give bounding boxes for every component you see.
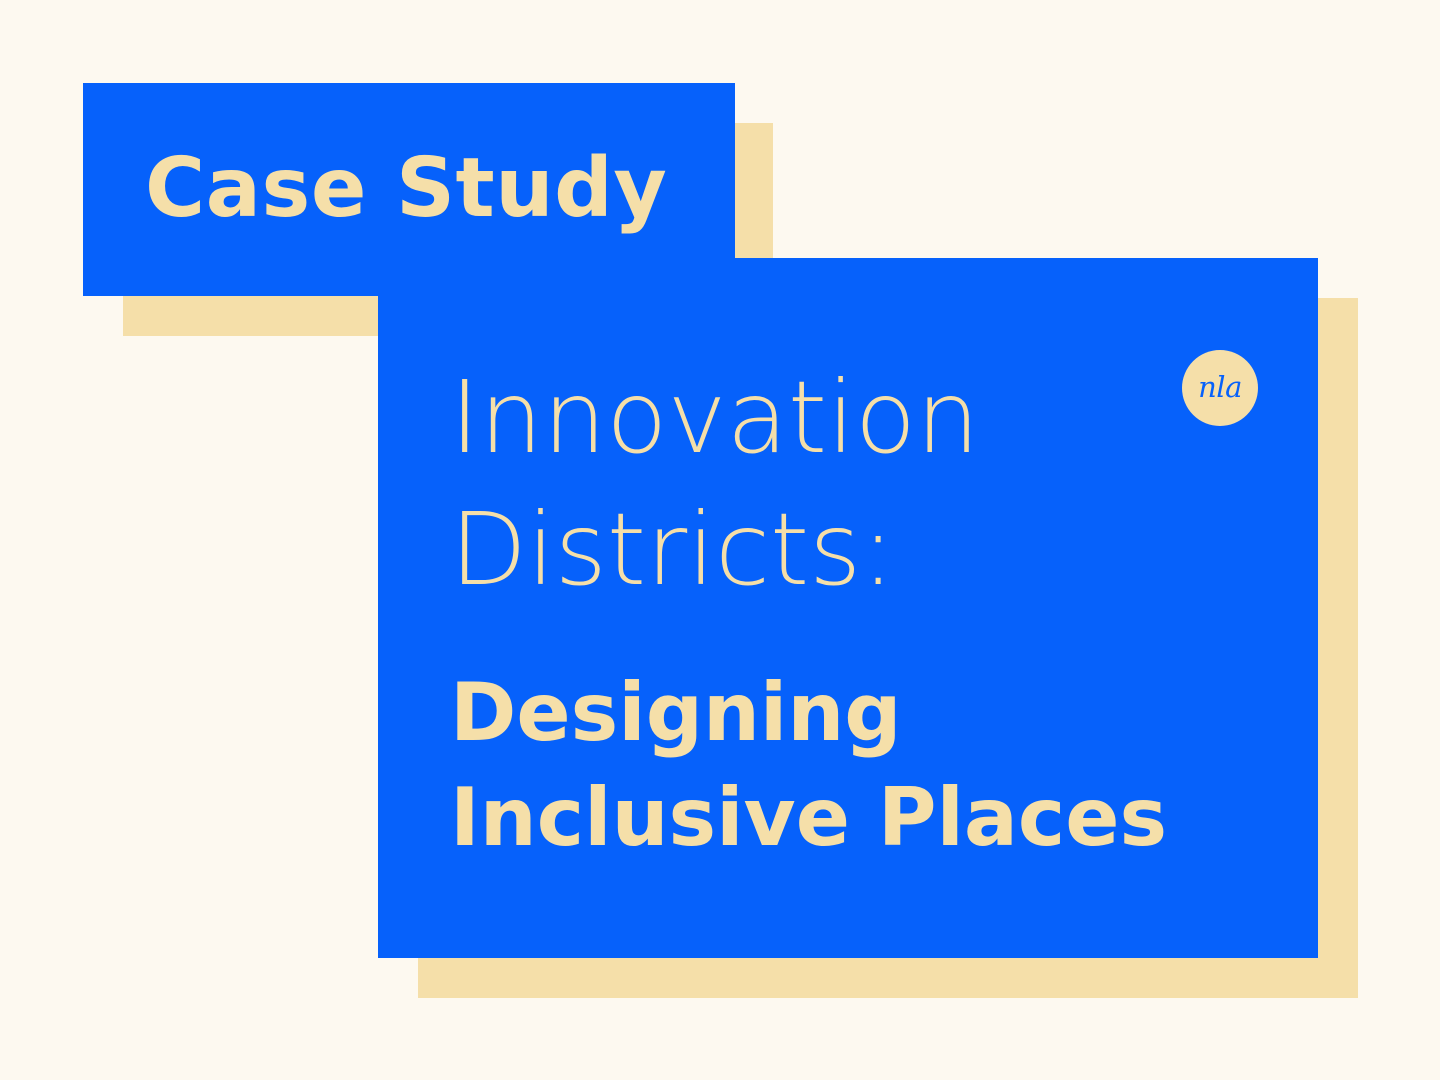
eyebrow-label: Case Study — [145, 133, 725, 245]
case-study-cover: Case Study Innovation Districts: Designi… — [0, 0, 1440, 1080]
subtitle-line-2: Inclusive Places — [450, 765, 1270, 870]
nla-logo-badge: nla — [1182, 350, 1258, 426]
page-title: Innovation Districts: — [450, 352, 1250, 616]
title-line-2: Districts: — [450, 484, 1250, 616]
title-line-1: Innovation — [450, 352, 1250, 484]
subtitle-line-1: Designing — [450, 660, 1270, 765]
nla-logo-label: nla — [1198, 373, 1242, 402]
page-subtitle: Designing Inclusive Places — [450, 660, 1270, 870]
